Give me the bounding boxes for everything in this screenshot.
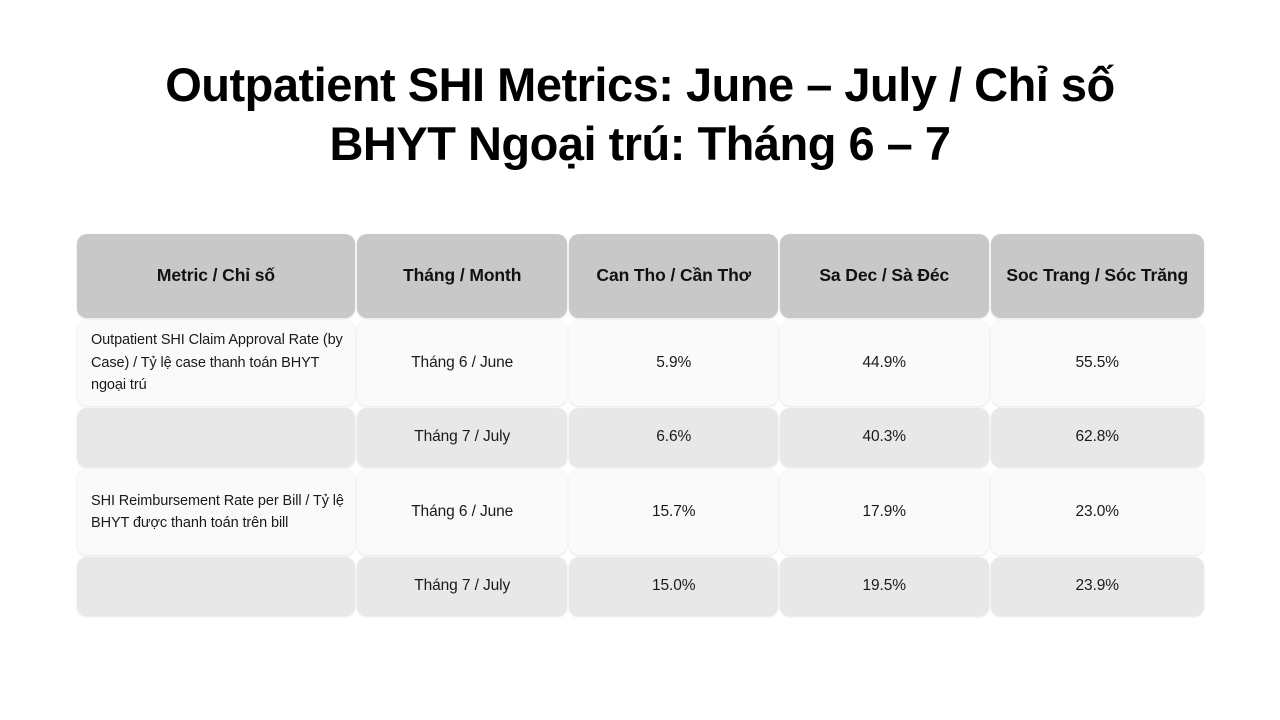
table-cell-month: Tháng 7 / July [357,557,568,616]
table-cell-metric-text: Outpatient SHI Claim Approval Rate (by C… [91,329,345,396]
page-title: Outpatient SHI Metrics: June – July / Ch… [90,55,1190,173]
table-header-label-month: Tháng / Month [403,265,521,287]
table-cell-month: Tháng 7 / July [357,408,568,467]
table-cell-sa-dec-value: 40.3% [863,425,906,450]
table-cell-sa-dec: 19.5% [780,557,989,616]
table-cell-metric: Outpatient SHI Claim Approval Rate (by C… [77,320,355,406]
table-cell-soc-trang-value: 62.8% [1076,425,1119,450]
table-header-cell-soc-trang[interactable]: Soc Trang / Sóc Trăng [991,234,1204,318]
table-cell-metric [77,557,355,616]
table-cell-soc-trang-value: 55.5% [1076,351,1119,376]
table-cell-soc-trang: 62.8% [991,408,1204,467]
table-cell-can-tho-value: 15.0% [652,574,695,599]
table-cell-month-text: Tháng 6 / June [411,500,513,525]
table-cell-sa-dec: 40.3% [780,408,989,467]
table-row: Tháng 7 / July 15.0% 19.5% 23.9% [76,556,1205,617]
table-cell-soc-trang-value: 23.9% [1076,574,1119,599]
table-header-label-metric: Metric / Chỉ số [157,265,275,287]
table-cell-month: Tháng 6 / June [357,469,568,555]
table-cell-month: Tháng 6 / June [357,320,568,406]
table-cell-sa-dec-value: 44.9% [863,351,906,376]
table-cell-month-text: Tháng 7 / July [414,574,510,599]
table-header-label-can-tho: Can Tho / Cần Thơ [596,265,751,287]
table-cell-soc-trang: 55.5% [991,320,1204,406]
table-cell-can-tho: 15.0% [569,557,778,616]
table-header-cell-metric[interactable]: Metric / Chỉ số [77,234,355,318]
metrics-table: Metric / Chỉ số Tháng / Month Can Tho / … [76,233,1205,617]
table-cell-soc-trang: 23.9% [991,557,1204,616]
table-cell-soc-trang: 23.0% [991,469,1204,555]
slide-canvas: Outpatient SHI Metrics: June – July / Ch… [0,0,1280,720]
table-cell-can-tho-value: 6.6% [656,425,691,450]
table-cell-sa-dec-value: 19.5% [863,574,906,599]
table-cell-metric-text: SHI Reimbursement Rate per Bill / Tỷ lệ … [91,490,345,535]
table-cell-can-tho: 5.9% [569,320,778,406]
table-header-cell-sa-dec[interactable]: Sa Dec / Sà Đéc [780,234,989,318]
table-cell-can-tho: 6.6% [569,408,778,467]
table-cell-month-text: Tháng 7 / July [414,425,510,450]
table-row: Tháng 7 / July 6.6% 40.3% 62.8% [76,407,1205,468]
table-header-cell-month[interactable]: Tháng / Month [357,234,568,318]
table-cell-sa-dec-value: 17.9% [863,500,906,525]
table-cell-sa-dec: 44.9% [780,320,989,406]
table-cell-can-tho: 15.7% [569,469,778,555]
table-cell-metric [77,408,355,467]
table-cell-can-tho-value: 15.7% [652,500,695,525]
table-header-label-soc-trang: Soc Trang / Sóc Trăng [1006,265,1188,287]
table-header-cell-can-tho[interactable]: Can Tho / Cần Thơ [569,234,778,318]
table-cell-soc-trang-value: 23.0% [1076,500,1119,525]
table-cell-sa-dec: 17.9% [780,469,989,555]
table-cell-month-text: Tháng 6 / June [411,351,513,376]
table-row: SHI Reimbursement Rate per Bill / Tỷ lệ … [76,468,1205,556]
table-cell-metric: SHI Reimbursement Rate per Bill / Tỷ lệ … [77,469,355,555]
table-cell-can-tho-value: 5.9% [656,351,691,376]
table-row: Outpatient SHI Claim Approval Rate (by C… [76,319,1205,407]
table-header-label-sa-dec: Sa Dec / Sà Đéc [819,265,949,287]
table-header-row: Metric / Chỉ số Tháng / Month Can Tho / … [76,233,1205,319]
